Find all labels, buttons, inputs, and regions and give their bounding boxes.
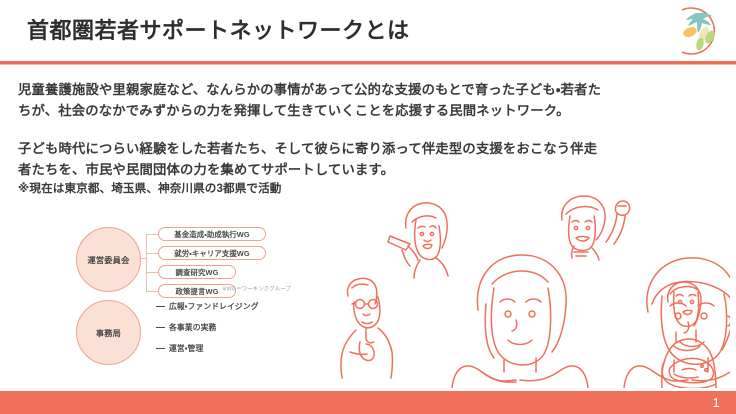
- dash-marker-icon: [156, 348, 165, 349]
- secretariat-duty-1-label: 広報・ファンドレイジング: [169, 301, 259, 312]
- figure-young-woman-bob: [388, 203, 448, 278]
- header-divider-soft: [0, 64, 736, 65]
- node-committee-label: 運営委員会: [88, 254, 130, 266]
- slide: 首都圏若者サポートネットワークとは 児童養護施設や里親家庭など、なんらかの事情が…: [0, 0, 736, 414]
- secretariat-duty-3: 運営・管理: [156, 343, 259, 354]
- node-committee: 運営委員会: [76, 227, 141, 292]
- secretariat-duty-1: 広報・ファンドレイジング: [156, 301, 259, 312]
- paragraph-1: 児童養護施設や里親家庭など、なんらかの事情があって公的な支援のもとで育った子ども…: [18, 79, 608, 121]
- body-copy: 児童養護施設や里親家庭など、なんらかの事情があって公的な支援のもとで育った子ども…: [18, 79, 608, 197]
- working-group-1-label: 基金造成・助成執行WG: [174, 229, 249, 240]
- paragraph-2: 子ども時代につらい経験をした若者たち、そして彼らに寄り添って伴走型の支援をおこな…: [18, 138, 608, 180]
- people-line-art-illustration: [330, 192, 730, 388]
- working-group-1: 基金造成・助成執行WG: [158, 227, 266, 241]
- connector-branch-2: [146, 253, 158, 254]
- dash-marker-icon: [156, 306, 165, 307]
- node-secretariat-label: 事務局: [96, 327, 121, 339]
- node-secretariat: 事務局: [76, 300, 141, 365]
- connector-branch-4: [146, 291, 158, 292]
- secretariat-duty-2-label: 各事業の実務: [169, 322, 216, 333]
- secretariat-duty-list: 広報・ファンドレイジング 各事業の実務 運営・管理: [156, 301, 259, 364]
- slide-header: 首都圏若者サポートネットワークとは: [0, 0, 736, 62]
- footer-bar: [0, 391, 736, 414]
- connector-branch-1: [146, 234, 158, 235]
- working-group-2: 就労・キャリア支援WG: [158, 246, 266, 260]
- working-group-2-label: 就労・キャリア支援WG: [174, 248, 249, 259]
- page-title: 首都圏若者サポートネットワークとは: [27, 13, 410, 45]
- figure-person-raised-fist: [562, 196, 630, 260]
- working-group-footnote: ※WG＝ワーキンググループ: [222, 286, 291, 293]
- connector-branch-3: [146, 272, 158, 273]
- figure-woman-center-large: [452, 255, 588, 388]
- working-group-3-label: 調査研究WG: [176, 267, 219, 278]
- working-group-3: 調査研究WG: [158, 265, 236, 279]
- secretariat-duty-2: 各事業の実務: [156, 322, 259, 333]
- org-diagram: 運営委員会 基金造成・助成執行WG 就労・キャリア支援WG 調査研究WG 政策提…: [60, 218, 320, 373]
- dash-marker-icon: [156, 327, 165, 328]
- working-group-4-label: 政策提言WG: [176, 286, 219, 297]
- page-number: 1: [712, 395, 720, 410]
- connector-trunk: [146, 234, 147, 291]
- figure-older-woman: [341, 278, 393, 378]
- bird-tree-leaf-logo: [672, 4, 728, 58]
- secretariat-duty-3-label: 運営・管理: [169, 343, 203, 354]
